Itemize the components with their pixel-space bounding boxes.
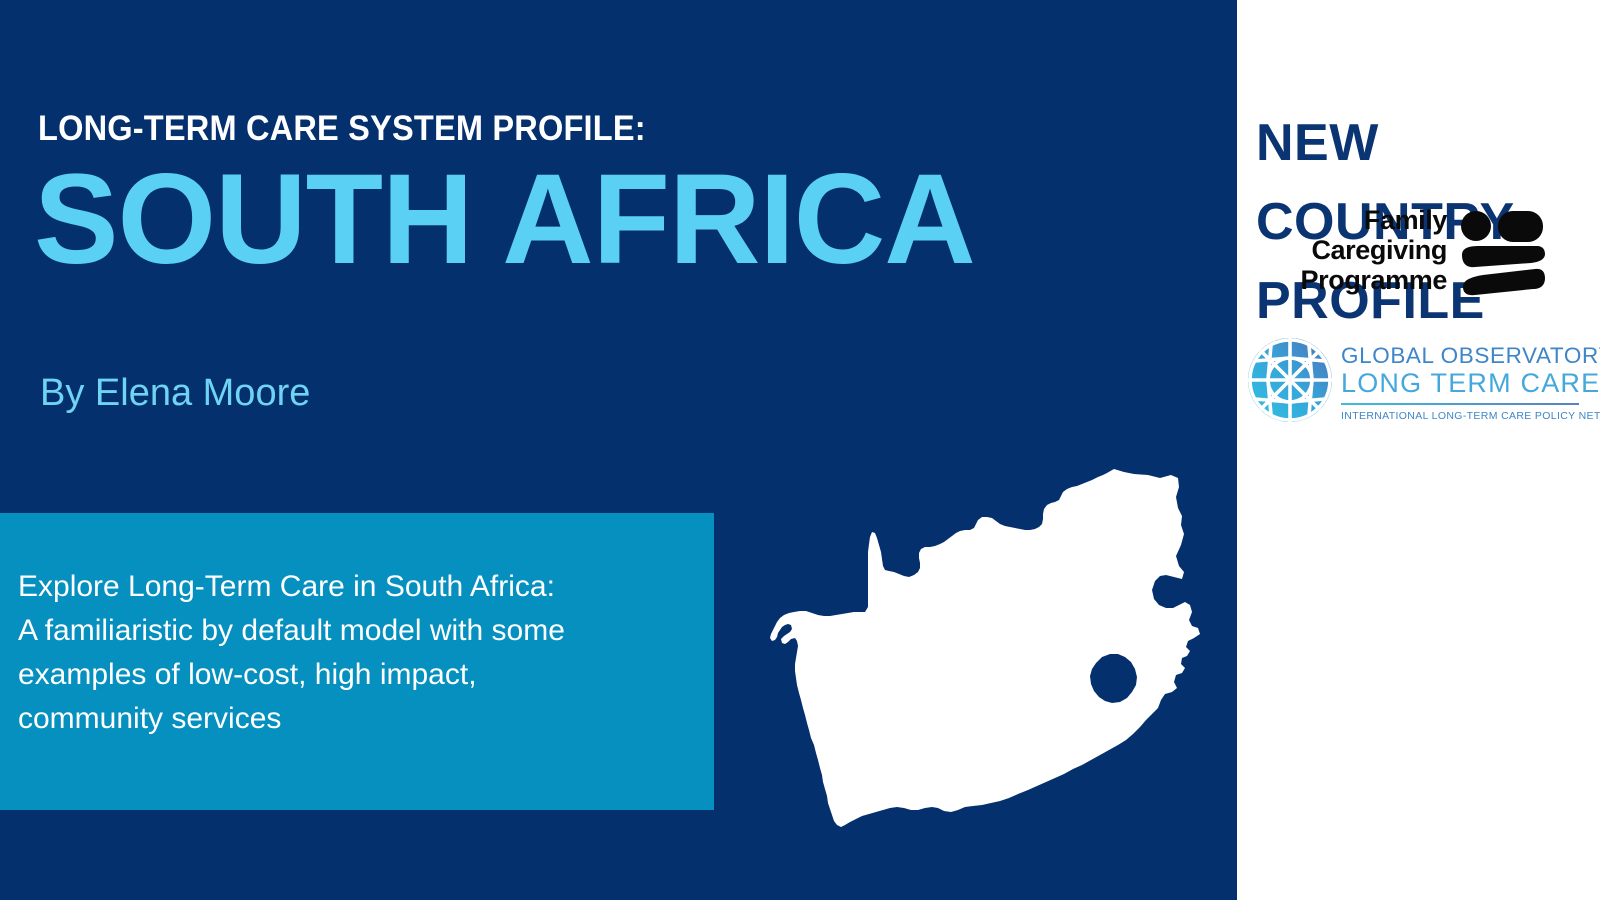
author-byline: By Elena Moore <box>40 372 310 415</box>
global-observatory-logo: GLOBAL OBSERVATORY LONG TERM CARE INTERN… <box>1245 333 1595 433</box>
left-panel: LONG-TERM CARE SYSTEM PROFILE: SOUTH AFR… <box>0 0 1237 900</box>
description-text: Explore Long-Term Care in South Africa: … <box>18 565 688 741</box>
page-title: SOUTH AFRICA <box>34 156 975 284</box>
slide-canvas: LONG-TERM CARE SYSTEM PROFILE: SOUTH AFR… <box>0 0 1600 900</box>
eyebrow-heading: LONG-TERM CARE SYSTEM PROFILE: <box>38 109 646 149</box>
south-africa-map-icon <box>762 442 1210 842</box>
globe-icon <box>1245 335 1335 425</box>
description-callout-box: Explore Long-Term Care in South Africa: … <box>0 513 714 810</box>
logo-divider <box>1341 403 1579 405</box>
family-caregiving-programme-logo: Family Caregiving Programme <box>1267 205 1557 310</box>
family-caregiving-programme-wordmark: Family Caregiving Programme <box>1267 205 1447 295</box>
two-people-icon <box>1457 209 1545 297</box>
global-observatory-line1: GLOBAL OBSERVATORY <box>1341 343 1591 368</box>
right-panel: NEW COUNTRY PROFILE Family Caregiving Pr… <box>1237 0 1600 900</box>
global-observatory-line2: LONG TERM CARE <box>1341 368 1591 398</box>
global-observatory-tagline: INTERNATIONAL LONG-TERM CARE POLICY NETW… <box>1341 410 1591 422</box>
south-africa-map <box>762 442 1210 842</box>
global-observatory-wordmark: GLOBAL OBSERVATORY LONG TERM CARE INTERN… <box>1341 343 1591 422</box>
